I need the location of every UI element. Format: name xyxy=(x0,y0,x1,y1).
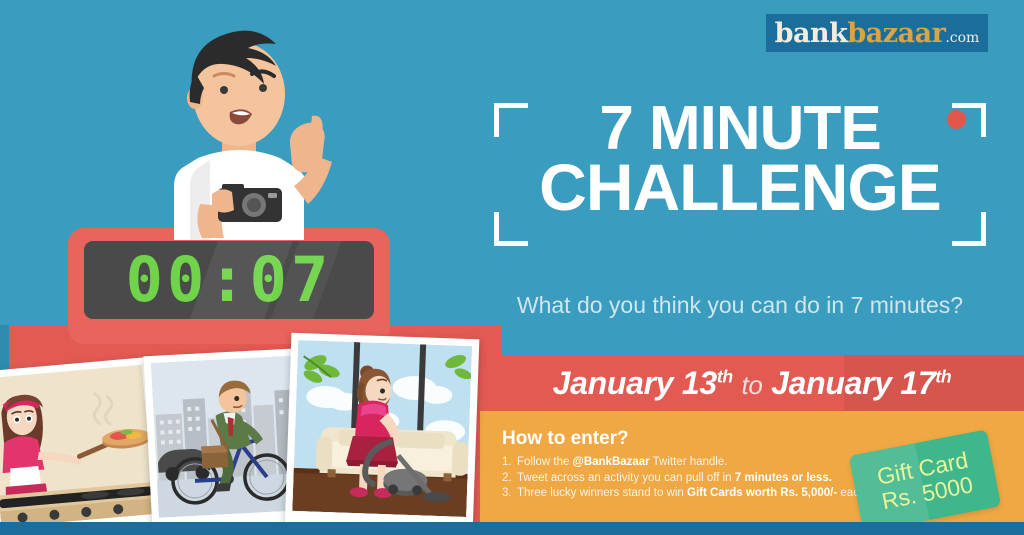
list-item-number: 2. xyxy=(502,471,517,487)
how-to-enter-title: How to enter? xyxy=(502,428,862,450)
date-end-month: January xyxy=(771,365,892,401)
photo-cooking xyxy=(0,357,163,535)
photographer-character-illustration xyxy=(126,18,356,240)
date-band: January 13th to January 17th xyxy=(480,355,1024,411)
list-item-number: 3. xyxy=(502,486,517,502)
photo-cooking-image xyxy=(0,365,155,528)
logo-com-text: .com xyxy=(945,30,979,46)
photo-vacuuming xyxy=(285,333,480,535)
digital-timer: 00:07 xyxy=(68,228,390,344)
headline-line-2: CHALLENGE xyxy=(500,157,980,218)
date-end-day: 17 xyxy=(900,365,935,401)
photo-cycling-image xyxy=(151,355,307,518)
promo-banner: bankbazaar.com 7 MINUTE CHALLENGE What d… xyxy=(0,0,1024,535)
headline-line-1: 7 MINUTE xyxy=(500,100,980,157)
headline: 7 MINUTE CHALLENGE xyxy=(500,100,980,218)
date-start-day: 13 xyxy=(682,365,717,401)
date-end-suffix: th xyxy=(935,366,951,386)
photo-vacuuming-image xyxy=(292,340,472,517)
date-start-suffix: th xyxy=(717,366,733,386)
list-item: 3.Three lucky winners stand to win Gift … xyxy=(502,486,862,502)
logo-bazaar-text: bazaar xyxy=(847,18,945,49)
bottom-strip xyxy=(0,522,1024,535)
how-to-enter-section: How to enter? 1.Follow the @BankBazaar T… xyxy=(502,428,862,502)
timer-screen: 00:07 xyxy=(84,241,374,319)
list-item-text: Follow the @BankBazaar Twitter handle. xyxy=(517,456,727,468)
date-connector: to xyxy=(741,370,762,400)
list-item-text: Tweet across an activity you can pull of… xyxy=(517,472,832,484)
list-item: 2.Tweet across an activity you can pull … xyxy=(502,471,862,487)
how-to-enter-list: 1.Follow the @BankBazaar Twitter handle.… xyxy=(502,455,862,502)
bankbazaar-logo[interactable]: bankbazaar.com xyxy=(766,14,988,52)
date-range-text: January 13th to January 17th xyxy=(553,365,952,402)
logo-text: bankbazaar.com xyxy=(775,20,980,47)
list-item: 1.Follow the @BankBazaar Twitter handle. xyxy=(502,455,862,471)
logo-bank-text: bank xyxy=(775,18,848,49)
date-start-month: January xyxy=(553,365,674,401)
list-item-number: 1. xyxy=(502,455,517,471)
list-item-text: Three lucky winners stand to win Gift Ca… xyxy=(517,487,869,499)
headline-subtitle: What do you think you can do in 7 minute… xyxy=(500,292,980,319)
